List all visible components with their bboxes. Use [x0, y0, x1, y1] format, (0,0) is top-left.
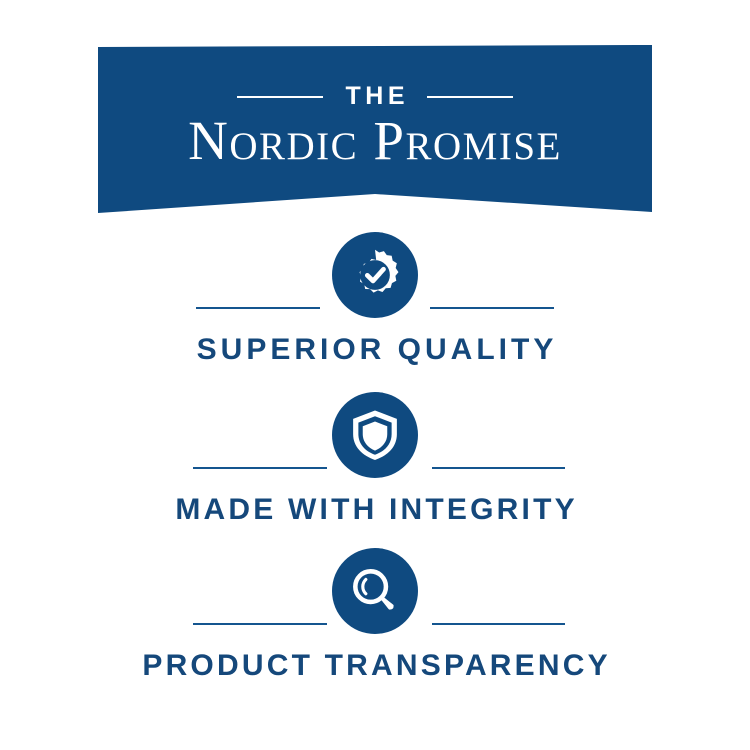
promise-icon-band: [0, 392, 750, 488]
promise-icon-band: [0, 548, 750, 644]
divider-left: [193, 623, 327, 625]
banner-shape: [0, 0, 750, 225]
promise-label: MADE WITH INTEGRITY: [0, 495, 750, 525]
divider-left: [193, 467, 327, 469]
banner: THE Nordic Promise: [0, 0, 750, 225]
promise-label-wrap: MADE WITH INTEGRITY: [0, 495, 750, 525]
shield-icon: [332, 392, 418, 478]
promise-item-made-with-integrity: MADE WITH INTEGRITY: [0, 392, 750, 488]
promise-item-product-transparency: PRODUCT TRANSPARENCY: [0, 548, 750, 644]
nordic-promise-poster: THE Nordic Promise SUPERIOR QUALITY: [0, 0, 750, 750]
magnifying-glass-icon: [332, 548, 418, 634]
promise-label: PRODUCT TRANSPARENCY: [0, 651, 750, 681]
promise-label-wrap: SUPERIOR QUALITY: [0, 335, 750, 365]
divider-left: [196, 307, 320, 309]
divider-right: [430, 307, 554, 309]
promise-icon-band: [0, 232, 750, 328]
divider-right: [432, 467, 565, 469]
promise-label: SUPERIOR QUALITY: [0, 335, 750, 365]
promise-label-wrap: PRODUCT TRANSPARENCY: [0, 651, 750, 681]
divider-right: [432, 623, 565, 625]
promise-item-superior-quality: SUPERIOR QUALITY: [0, 232, 750, 328]
badge-check-icon: [332, 232, 418, 318]
